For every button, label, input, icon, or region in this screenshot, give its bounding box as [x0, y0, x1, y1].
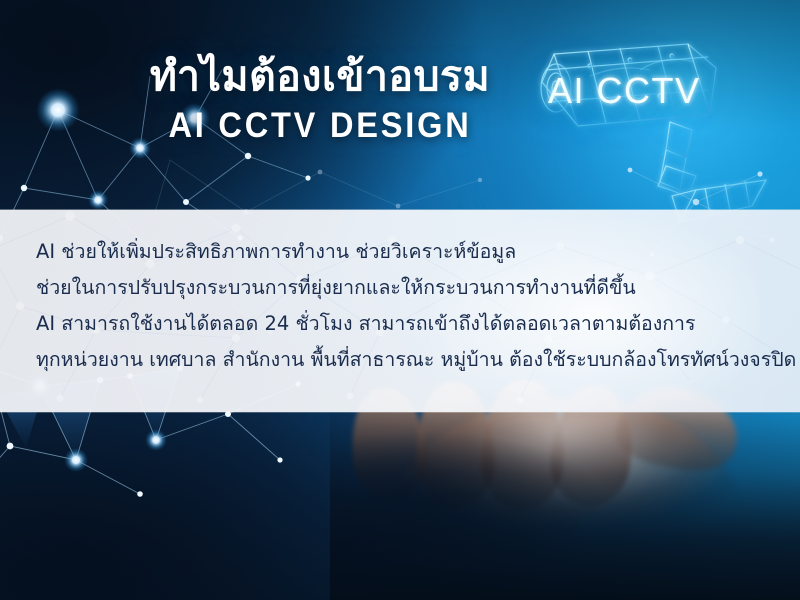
- body-line-3: AI สามารถใช้งานได้ตลอด 24 ชั่วโมง สามารถ…: [36, 306, 776, 342]
- body-panel: AI ช่วยให้เพิ่มประสิทธิภาพการทำงาน ช่วยว…: [0, 210, 800, 412]
- neon-ai-cctv-label: AI CCTV: [548, 70, 701, 112]
- body-line-2: ช่วยในการปรับปรุงกระบวนการที่ยุ่งยากและใ…: [36, 270, 776, 306]
- poster-canvas: ทำไมต้องเข้าอบรม AI CCTV DESIGN AI CCTV: [0, 0, 800, 600]
- body-line-4: ทุกหน่วยงาน เทศบาล สำนักงาน พื้นที่สาธาร…: [36, 342, 776, 378]
- page-title-thai: ทำไมต้องเข้าอบรม: [0, 52, 640, 100]
- body-text-block: AI ช่วยให้เพิ่มประสิทธิภาพการทำงาน ช่วยว…: [36, 234, 776, 378]
- body-line-1: AI ช่วยให้เพิ่มประสิทธิภาพการทำงาน ช่วยว…: [36, 234, 776, 270]
- page-title-english: AI CCTV DESIGN: [22, 106, 617, 146]
- headline-block: ทำไมต้องเข้าอบรม AI CCTV DESIGN: [0, 52, 640, 146]
